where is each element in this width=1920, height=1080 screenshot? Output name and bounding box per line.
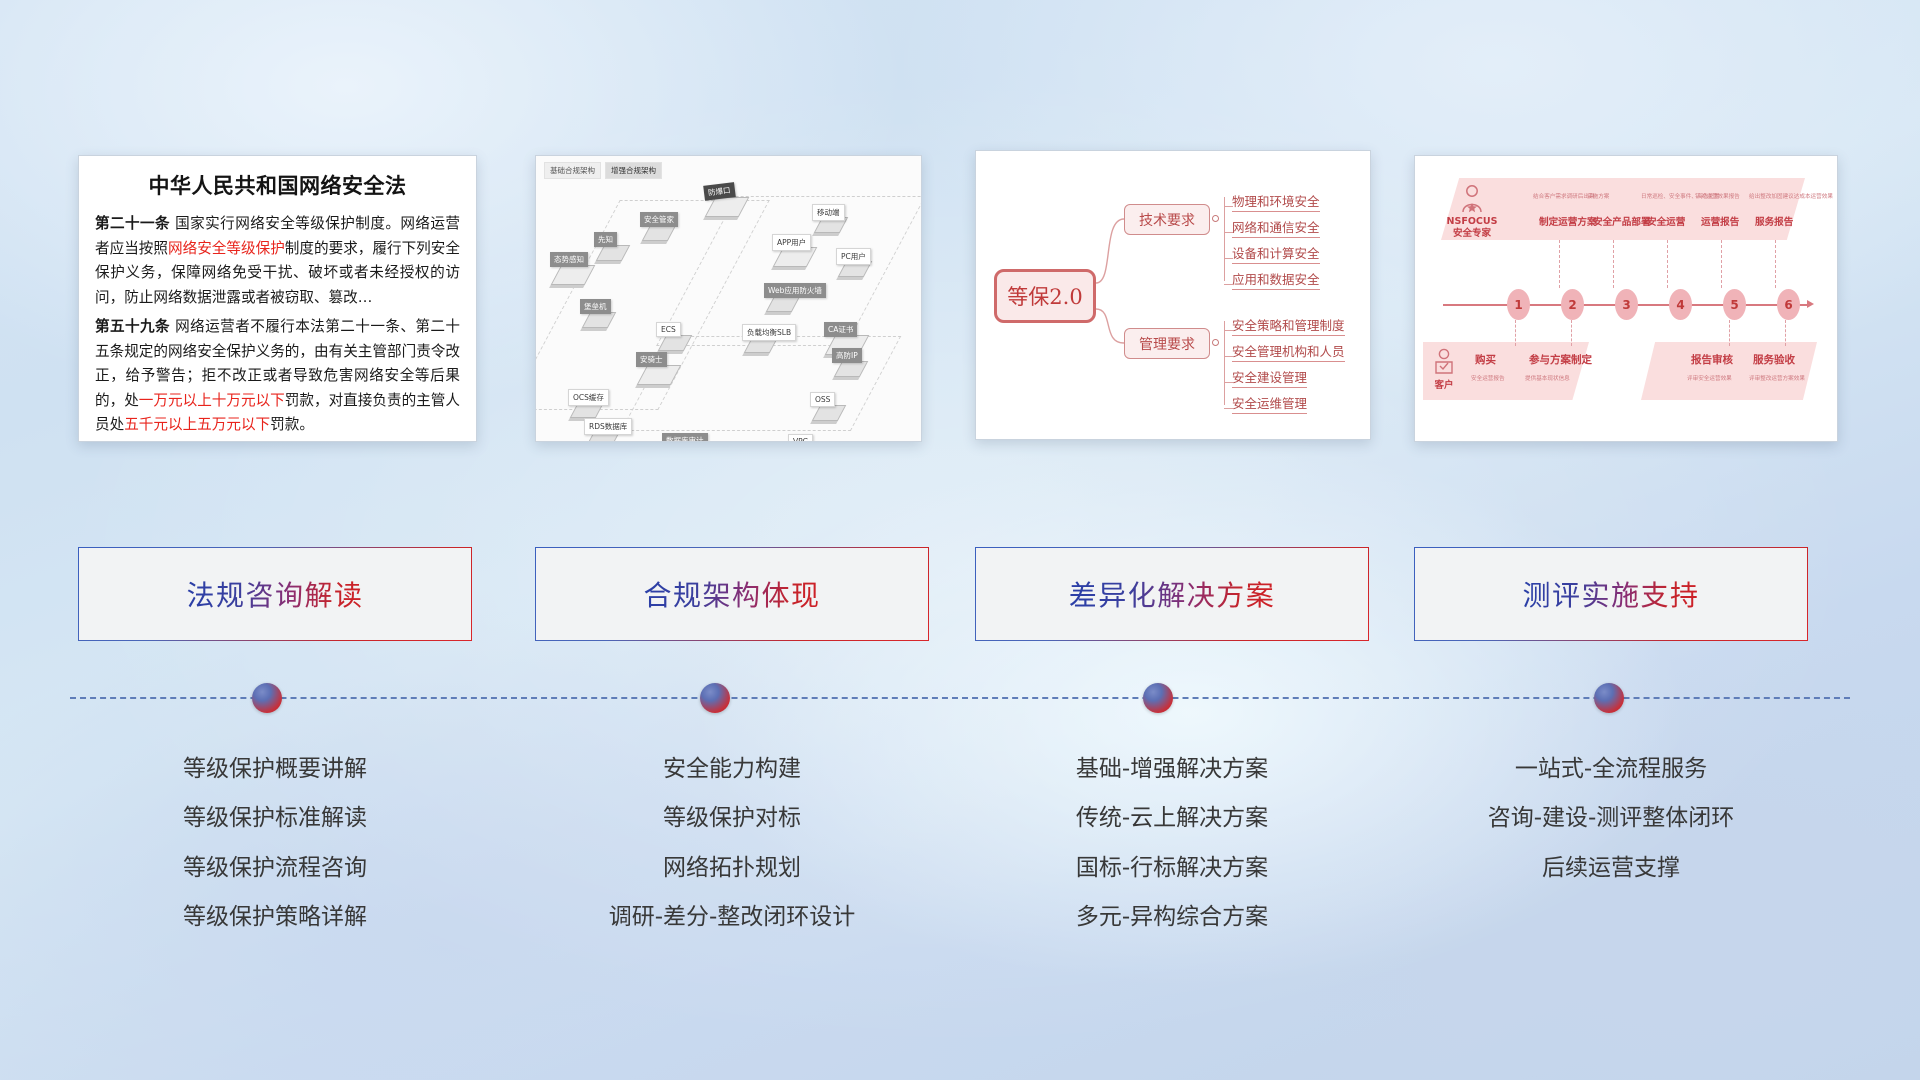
law-article-label-2: 第五十九条 bbox=[95, 318, 170, 335]
architecture-node-15[interactable]: APP用户 bbox=[772, 234, 811, 251]
flow-top-dash-3 bbox=[1721, 240, 1722, 288]
timeline-dashed-line bbox=[70, 697, 1850, 699]
list-item: 咨询-建设-测评整体闭环 bbox=[1414, 794, 1808, 843]
title-box-differentiated-solution[interactable]: 差异化解决方案 bbox=[975, 547, 1369, 641]
list-item: 调研-差分-整改闭环设计 bbox=[535, 893, 929, 942]
mindmap-connector-dot-1 bbox=[1212, 339, 1219, 346]
mindmap-leaf-1-3[interactable]: 安全运维管理 bbox=[1232, 393, 1307, 414]
flow-bottom-sub-3: 评审整改运营方案效果 bbox=[1749, 374, 1805, 382]
law-run-1b-highlight: 网络安全等级保护 bbox=[168, 240, 285, 257]
list-item: 传统-云上解决方案 bbox=[975, 794, 1369, 843]
law-paragraph-1: 第二十一条 国家实行网络安全等级保护制度。网络运营者应当按照网络安全等级保护制度… bbox=[95, 212, 460, 310]
architecture-node-5[interactable]: ECS bbox=[656, 322, 681, 337]
flow-top-sub-0: 结合客户需求调研后出具 bbox=[1533, 192, 1595, 200]
flow-axis-arrow-icon bbox=[1807, 300, 1814, 308]
flow-top-label-1[interactable]: 安全产品部署 bbox=[1593, 214, 1651, 228]
customer-person-icon bbox=[1433, 348, 1455, 378]
list-item: 等级保护流程咨询 bbox=[78, 844, 472, 893]
mindmap-spine-0 bbox=[1224, 197, 1225, 281]
mindmap-leaf-1-0[interactable]: 安全策略和管理制度 bbox=[1232, 315, 1345, 336]
flow-bottom-dash-0 bbox=[1515, 320, 1516, 346]
flow-top-label-2[interactable]: 安全运营 bbox=[1647, 214, 1685, 228]
architecture-tab-group[interactable]: 基础合规架构增强合规架构 bbox=[544, 162, 662, 179]
timeline-marker-2[interactable] bbox=[1143, 683, 1173, 713]
mindmap-leaf-0-0[interactable]: 物理和环境安全 bbox=[1232, 191, 1320, 212]
timeline-marker-1[interactable] bbox=[700, 683, 730, 713]
flow-top-dash-4 bbox=[1775, 240, 1776, 288]
flow-bottom-label-1[interactable]: 参与方案制定 bbox=[1529, 352, 1592, 367]
list-item: 等级保护对标 bbox=[535, 794, 929, 843]
bullet-list-2: 基础-增强解决方案传统-云上解决方案国标-行标解决方案多元-异构综合方案 bbox=[975, 745, 1369, 943]
card-row: 中华人民共和国网络安全法 第二十一条 国家实行网络安全等级保护制度。网络运营者应… bbox=[0, 0, 1920, 460]
mindmap-leaf-link-1-1 bbox=[1224, 356, 1233, 357]
mindmap-leaf-0-2[interactable]: 设备和计算安全 bbox=[1232, 243, 1320, 264]
mindmap-leaf-link-1-0 bbox=[1224, 330, 1233, 331]
expert-person-icon bbox=[1459, 184, 1485, 214]
flow-bottom-dash-2 bbox=[1729, 320, 1730, 346]
flow-bottom-label-3[interactable]: 服务验收 bbox=[1753, 352, 1795, 367]
mindmap-root-node: 等保2.0 bbox=[994, 269, 1096, 323]
architecture-node-6[interactable]: 安骑士 bbox=[636, 352, 667, 367]
architecture-node-11[interactable]: 负载均衡SLB bbox=[742, 324, 796, 341]
architecture-node-4[interactable]: 堡垒机 bbox=[580, 299, 611, 314]
architecture-node-18[interactable]: VPC bbox=[788, 434, 813, 442]
mindmap-leaf-1-2[interactable]: 安全建设管理 bbox=[1232, 367, 1307, 388]
flow-bottom-label-0[interactable]: 购买 bbox=[1475, 352, 1496, 367]
list-item: 等级保护概要讲解 bbox=[78, 745, 472, 794]
mindmap-leaf-link-0-1 bbox=[1224, 232, 1233, 233]
architecture-node-2[interactable]: 先知 bbox=[594, 232, 617, 247]
flow-brand-name: NSFOCUS bbox=[1441, 216, 1503, 228]
flow-top-dash-2 bbox=[1667, 240, 1668, 288]
card-service-flow[interactable]: NSFOCUS 安全专家 客户 123456结合客户需求调研后出具制定运营方案实… bbox=[1414, 155, 1838, 442]
title-box-regulation-consulting[interactable]: 法规咨询解读 bbox=[78, 547, 472, 641]
timeline-marker-0[interactable] bbox=[252, 683, 282, 713]
law-run-2d-highlight: 五千元以上五万元以下 bbox=[124, 416, 270, 433]
architecture-node-14[interactable]: 移动端 bbox=[812, 204, 845, 221]
law-article-label-1: 第二十一条 bbox=[95, 215, 170, 232]
flow-top-label-4[interactable]: 服务报告 bbox=[1755, 214, 1793, 228]
law-title: 中华人民共和国网络安全法 bbox=[95, 170, 460, 200]
card-cybersecurity-law[interactable]: 中华人民共和国网络安全法 第二十一条 国家实行网络安全等级保护制度。网络运营者应… bbox=[78, 155, 477, 442]
title-label-1: 合规架构体现 bbox=[643, 574, 820, 614]
mindmap-leaf-0-1[interactable]: 网络和通信安全 bbox=[1232, 217, 1320, 238]
flow-bottom-sub-0: 安全运营报告 bbox=[1471, 374, 1505, 382]
flow-customer-label: 客户 bbox=[1427, 380, 1461, 392]
flow-top-sub-1: 实施方案 bbox=[1587, 192, 1609, 200]
flow-step-node-2[interactable]: 2 bbox=[1561, 289, 1584, 320]
title-label-3: 测评实施支持 bbox=[1522, 574, 1699, 614]
mindmap-leaf-link-0-0 bbox=[1224, 206, 1233, 207]
list-item: 一站式-全流程服务 bbox=[1414, 745, 1808, 794]
list-item: 网络拓扑规划 bbox=[535, 844, 929, 893]
mindmap-branch-management: 管理要求 bbox=[1124, 328, 1210, 359]
flow-step-node-1[interactable]: 1 bbox=[1507, 289, 1530, 320]
architecture-node-7[interactable]: OCS缓存 bbox=[568, 389, 609, 406]
mindmap-leaf-link-1-3 bbox=[1224, 408, 1233, 409]
bullet-list-0: 等级保护概要讲解等级保护标准解读等级保护流程咨询等级保护策略详解 bbox=[78, 745, 472, 943]
flow-top-label-3[interactable]: 运营报告 bbox=[1701, 214, 1739, 228]
list-item: 国标-行标解决方案 bbox=[975, 844, 1369, 893]
flow-bottom-sub-1: 提供基本现状信息 bbox=[1525, 374, 1570, 382]
mindmap-leaf-1-1[interactable]: 安全管理机构和人员 bbox=[1232, 341, 1345, 362]
title-box-compliance-architecture[interactable]: 合规架构体现 bbox=[535, 547, 929, 641]
list-item: 等级保护标准解读 bbox=[78, 794, 472, 843]
architecture-node-3[interactable]: 态势感知 bbox=[550, 252, 588, 267]
title-box-assessment-support[interactable]: 测评实施支持 bbox=[1414, 547, 1808, 641]
flow-step-node-4[interactable]: 4 bbox=[1669, 289, 1692, 320]
flow-step-node-5[interactable]: 5 bbox=[1723, 289, 1746, 320]
architecture-node-9[interactable]: 数据库审计 bbox=[662, 433, 708, 442]
list-item: 安全能力构建 bbox=[535, 745, 929, 794]
architecture-node-1[interactable]: 安全管家 bbox=[640, 212, 678, 227]
architecture-node-16[interactable]: PC用户 bbox=[836, 248, 871, 265]
flow-top-label-0[interactable]: 制定运营方案 bbox=[1539, 214, 1597, 228]
mindmap-branch-technical: 技术要求 bbox=[1124, 204, 1210, 235]
flow-bottom-sub-2: 评审安全运营效果 bbox=[1687, 374, 1732, 382]
bullet-list-3: 一站式-全流程服务咨询-建设-测评整体闭环后续运营支撑 bbox=[1414, 745, 1808, 893]
timeline-marker-3[interactable] bbox=[1594, 683, 1624, 713]
architecture-tab-0[interactable]: 基础合规架构 bbox=[544, 162, 601, 179]
title-label-0: 法规咨询解读 bbox=[186, 574, 363, 614]
mindmap-spine-1 bbox=[1224, 321, 1225, 405]
architecture-node-13[interactable]: 高防IP bbox=[832, 348, 862, 363]
flow-step-node-6[interactable]: 6 bbox=[1777, 289, 1800, 320]
flow-top-sub-3: 针对运营效果报告 bbox=[1695, 192, 1740, 200]
architecture-node-10[interactable]: Web应用防火墙 bbox=[764, 283, 826, 298]
architecture-node-12[interactable]: CA证书 bbox=[824, 322, 857, 337]
architecture-node-17[interactable]: OSS bbox=[810, 392, 835, 407]
flow-bottom-dash-1 bbox=[1571, 320, 1572, 346]
flow-step-node-3[interactable]: 3 bbox=[1615, 289, 1638, 320]
mindmap-leaf-link-1-2 bbox=[1224, 382, 1233, 383]
list-item: 等级保护策略详解 bbox=[78, 893, 472, 942]
flow-band-customer-right bbox=[1641, 342, 1817, 400]
architecture-tab-1[interactable]: 增强合规架构 bbox=[605, 162, 662, 179]
law-paragraph-2: 第五十九条 网络运营者不履行本法第二十一条、第二十五条规定的网络安全保护义务的，… bbox=[95, 315, 460, 438]
list-item: 基础-增强解决方案 bbox=[975, 745, 1369, 794]
architecture-node-8[interactable]: RDS数据库 bbox=[584, 418, 632, 435]
mindmap-leaf-0-3[interactable]: 应用和数据安全 bbox=[1232, 269, 1320, 290]
law-run-2b-highlight: 一万元以上十万元以下 bbox=[139, 392, 285, 409]
page-root: 中华人民共和国网络安全法 第二十一条 国家实行网络安全等级保护制度。网络运营者应… bbox=[0, 0, 1920, 1080]
flow-top-dash-0 bbox=[1559, 240, 1560, 288]
mindmap-leaf-link-0-3 bbox=[1224, 284, 1233, 285]
flow-bottom-label-2[interactable]: 报告审核 bbox=[1691, 352, 1733, 367]
mindmap-leaf-link-0-2 bbox=[1224, 258, 1233, 259]
list-item: 多元-异构综合方案 bbox=[975, 893, 1369, 942]
flow-top-dash-1 bbox=[1613, 240, 1614, 288]
bullet-list-1: 安全能力构建等级保护对标网络拓扑规划调研-差分-整改闭环设计 bbox=[535, 745, 929, 943]
law-run-2e: 罚款。 bbox=[270, 416, 314, 433]
card-compliance-architecture[interactable]: 基础合规架构增强合规架构 防爆口安全管家先知态势感知堡垒机ECS安骑士OCS缓存… bbox=[535, 155, 922, 442]
list-item: 后续运营支撑 bbox=[1414, 844, 1808, 893]
flow-brand-sub: 安全专家 bbox=[1441, 228, 1503, 240]
mindmap-connector-dot-0 bbox=[1212, 215, 1219, 222]
flow-bottom-dash-3 bbox=[1785, 320, 1786, 346]
architecture-canvas: 防爆口安全管家先知态势感知堡垒机ECS安骑士OCS缓存RDS数据库数据库审计We… bbox=[536, 156, 921, 441]
flow-brand-block: NSFOCUS 安全专家 bbox=[1441, 216, 1503, 240]
title-label-2: 差异化解决方案 bbox=[1069, 574, 1276, 614]
card-mindmap-dengbao[interactable]: 等保2.0 技术要求 管理要求 物理和环境安全网络和通信安全设备和计算安全应用和… bbox=[975, 150, 1371, 440]
flow-top-sub-4: 给出整改加固建议达成本运营效果 bbox=[1749, 192, 1833, 200]
